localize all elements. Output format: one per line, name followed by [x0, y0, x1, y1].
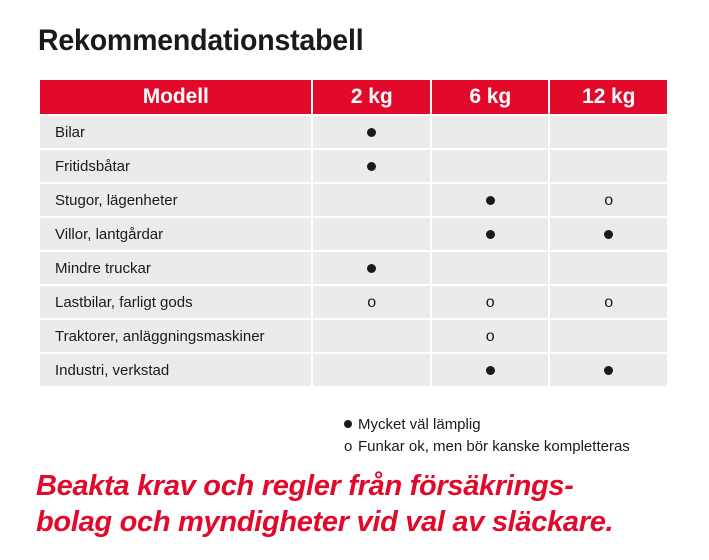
cell-rating-2kg — [313, 354, 430, 386]
filled-dot-icon — [486, 196, 495, 205]
cell-rating-6kg: o — [432, 286, 549, 318]
cell-model-name: Traktorer, anläggningsmaskiner — [40, 320, 311, 352]
cell-rating-12kg — [550, 354, 667, 386]
column-header-2kg: 2 kg — [313, 80, 430, 114]
open-circle-icon: o — [486, 329, 495, 345]
cell-model-name: Fritidsbåtar — [40, 150, 311, 182]
legend: Mycket väl lämplig oFunkar ok, men bör k… — [344, 414, 630, 458]
cell-rating-2kg — [313, 320, 430, 352]
cell-rating-6kg — [432, 116, 549, 148]
open-circle-icon: o — [604, 193, 613, 209]
footer-note-line-2: bolag och myndigheter vid val av släckar… — [36, 504, 696, 540]
cell-model-name: Industri, verkstad — [40, 354, 311, 386]
open-circle-icon: o — [604, 295, 613, 311]
cell-rating-6kg — [432, 252, 549, 284]
open-circle-icon: o — [367, 295, 376, 311]
cell-rating-6kg — [432, 354, 549, 386]
cell-model-name: Mindre truckar — [40, 252, 311, 284]
column-header-modell: Modell — [40, 80, 311, 114]
cell-rating-12kg: o — [550, 286, 667, 318]
table-row: Traktorer, anläggningsmaskinero — [40, 320, 667, 352]
cell-rating-12kg — [550, 320, 667, 352]
cell-rating-2kg — [313, 116, 430, 148]
cell-rating-2kg — [313, 150, 430, 182]
footer-note: Beakta krav och regler från försäkrings-… — [36, 468, 696, 540]
table-row: Villor, lantgårdar — [40, 218, 667, 250]
column-header-12kg: 12 kg — [550, 80, 667, 114]
table-row: Stugor, lägenhetero — [40, 184, 667, 216]
table-row: Lastbilar, farligt godsooo — [40, 286, 667, 318]
cell-rating-12kg — [550, 150, 667, 182]
open-circle-icon: o — [486, 295, 495, 311]
filled-dot-icon — [344, 414, 358, 436]
open-circle-icon: o — [344, 436, 358, 458]
filled-dot-icon — [367, 264, 376, 273]
cell-model-name: Lastbilar, farligt gods — [40, 286, 311, 318]
table-row: Industri, verkstad — [40, 354, 667, 386]
cell-rating-6kg — [432, 184, 549, 216]
cell-rating-2kg — [313, 218, 430, 250]
cell-rating-2kg: o — [313, 286, 430, 318]
cell-rating-12kg: o — [550, 184, 667, 216]
table-header-row: Modell 2 kg 6 kg 12 kg — [40, 80, 667, 114]
cell-rating-6kg — [432, 150, 549, 182]
filled-dot-icon — [486, 366, 495, 375]
page-title: Rekommendationstabell — [38, 24, 363, 58]
filled-dot-icon — [367, 162, 376, 171]
table-body: BilarFritidsbåtarStugor, lägenheteroVill… — [40, 116, 667, 386]
footer-note-line-1: Beakta krav och regler från försäkrings- — [36, 468, 696, 504]
column-header-6kg: 6 kg — [432, 80, 549, 114]
cell-model-name: Villor, lantgårdar — [40, 218, 311, 250]
cell-rating-6kg: o — [432, 320, 549, 352]
legend-item-dot: Mycket väl lämplig — [344, 414, 630, 436]
cell-rating-2kg — [313, 252, 430, 284]
cell-rating-6kg — [432, 218, 549, 250]
filled-dot-icon — [604, 366, 613, 375]
cell-model-name: Stugor, lägenheter — [40, 184, 311, 216]
recommendation-table: Modell 2 kg 6 kg 12 kg BilarFritidsbåtar… — [38, 78, 669, 388]
cell-rating-12kg — [550, 252, 667, 284]
cell-rating-2kg — [313, 184, 430, 216]
legend-label-dot: Mycket väl lämplig — [358, 416, 481, 433]
cell-rating-12kg — [550, 218, 667, 250]
filled-dot-icon — [367, 128, 376, 137]
cell-model-name: Bilar — [40, 116, 311, 148]
table-row: Mindre truckar — [40, 252, 667, 284]
cell-rating-12kg — [550, 116, 667, 148]
filled-dot-icon — [486, 230, 495, 239]
filled-dot-icon — [604, 230, 613, 239]
table-header: Modell 2 kg 6 kg 12 kg — [40, 80, 667, 114]
table-row: Fritidsbåtar — [40, 150, 667, 182]
page-root: Rekommendationstabell Modell 2 kg 6 kg 1… — [0, 0, 709, 560]
table-row: Bilar — [40, 116, 667, 148]
legend-label-circle: Funkar ok, men bör kanske kompletteras — [358, 438, 630, 455]
legend-item-circle: oFunkar ok, men bör kanske kompletteras — [344, 436, 630, 458]
